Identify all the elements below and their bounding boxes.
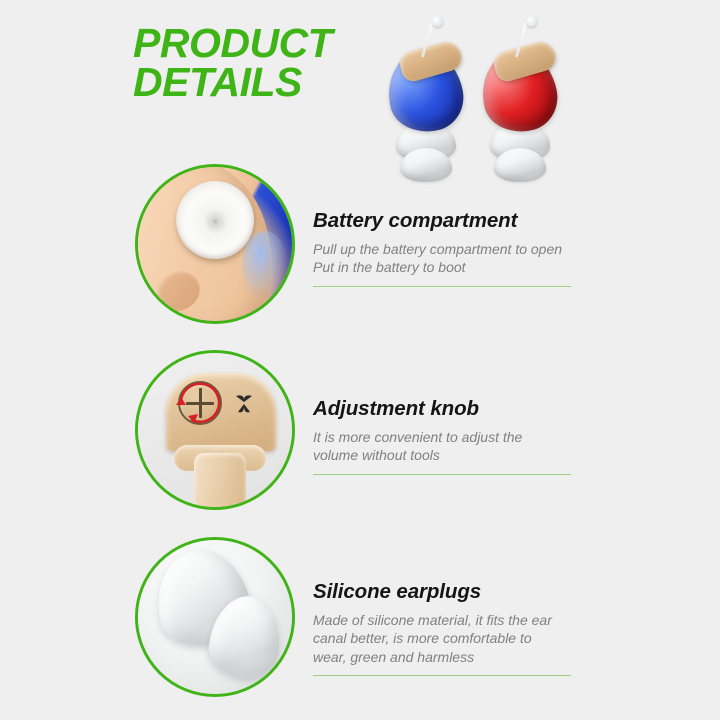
device-tube bbox=[194, 453, 246, 510]
cord-knob-icon bbox=[432, 16, 443, 27]
feature-photo-adjustment-knob bbox=[135, 350, 295, 510]
feature-photo-battery-compartment bbox=[135, 164, 295, 324]
microphone-port-icon bbox=[232, 391, 256, 415]
silicone-dome-icon bbox=[494, 148, 546, 182]
blue-hearing-aid bbox=[378, 18, 474, 178]
feature-description: Made of silicone material, it fits the e… bbox=[313, 611, 579, 667]
feature-text-battery-compartment: Battery compartment Pull up the battery … bbox=[313, 210, 579, 287]
divider bbox=[313, 474, 571, 475]
feature-text-adjustment-knob: Adjustment knob It is more convenient to… bbox=[313, 398, 579, 475]
page-title: PRODUCT DETAILS bbox=[133, 24, 393, 103]
feature-description: It is more convenient to adjust the volu… bbox=[313, 428, 579, 465]
divider bbox=[313, 286, 571, 287]
feature-heading: Silicone earplugs bbox=[313, 581, 579, 604]
silicone-dome-icon bbox=[400, 148, 452, 182]
feature-photo-silicone-earplugs bbox=[135, 537, 295, 697]
hero-product-photo bbox=[372, 18, 574, 182]
rotation-arrows-icon bbox=[172, 375, 228, 431]
product-details-page: PRODUCT DETAILS bbox=[0, 0, 720, 720]
feature-text-silicone-earplugs: Silicone earplugs Made of silicone mater… bbox=[313, 581, 579, 676]
cord-knob-icon bbox=[526, 16, 537, 27]
feature-heading: Adjustment knob bbox=[313, 398, 579, 421]
red-hearing-aid bbox=[472, 18, 568, 178]
feature-heading: Battery compartment bbox=[313, 210, 579, 233]
feature-description: Pull up the battery compartment to open … bbox=[313, 240, 579, 277]
divider bbox=[313, 675, 571, 676]
